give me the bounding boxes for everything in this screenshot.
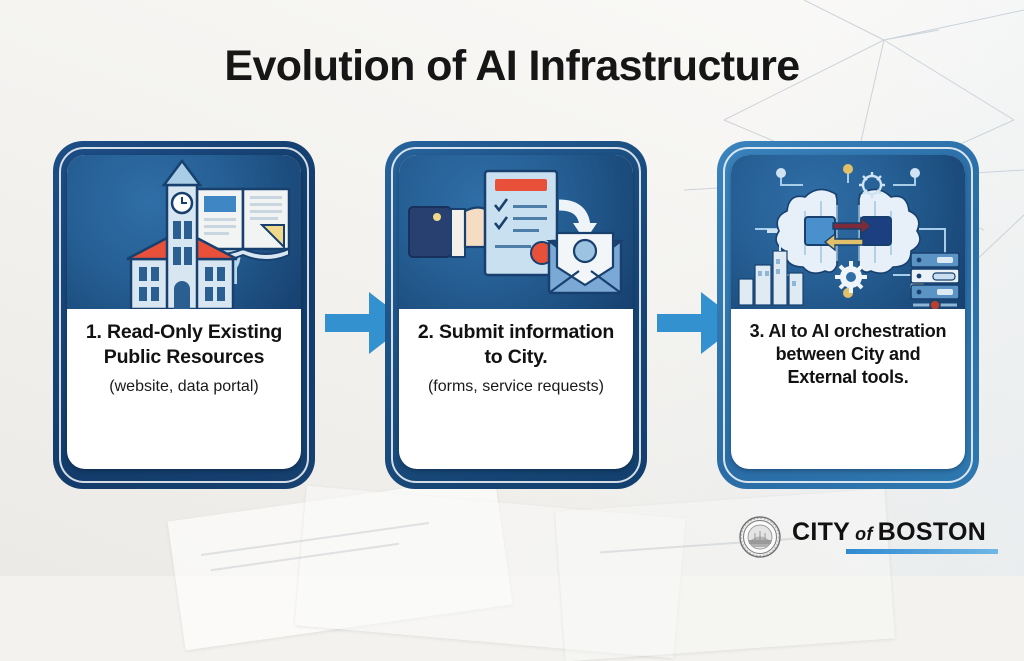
- dual-brain-network-servers-icon: [731, 155, 965, 309]
- logo-city: CITY: [792, 520, 850, 545]
- city-of-boston-logo: CITY of BOSTON: [739, 516, 998, 558]
- card-illustration-3: [731, 155, 965, 309]
- card-illustration-1: [67, 155, 301, 309]
- background-paper-sheet: [555, 489, 895, 661]
- step-card-1[interactable]: 1. Read-Only Existing Public Resources (…: [53, 141, 315, 489]
- card-content: 1. Read-Only Existing Public Resources (…: [67, 155, 301, 469]
- step-heading: 1. Read-Only Existing Public Resources: [77, 320, 291, 370]
- logo-underline-bar: [846, 549, 998, 554]
- step-heading: 2. Submit information to City.: [409, 320, 623, 370]
- city-hall-book-arrow-icon: [67, 155, 301, 309]
- card-content: 2. Submit information to City. (forms, s…: [399, 155, 633, 469]
- card-content: 3. AI to AI orchestration between City a…: [731, 155, 965, 469]
- card-text-3: 3. AI to AI orchestration between City a…: [731, 309, 965, 469]
- logo-text: CITY of BOSTON: [792, 520, 998, 554]
- logo-of: of: [855, 525, 873, 543]
- step-subtext: (forms, service requests): [409, 377, 623, 397]
- card-illustration-2: [399, 155, 633, 309]
- step-subtext: (website, data portal): [77, 377, 291, 397]
- card-text-2: 2. Submit information to City. (forms, s…: [399, 309, 633, 469]
- page-title: Evolution of AI Infrastructure: [0, 42, 1024, 91]
- card-text-1: 1. Read-Only Existing Public Resources (…: [67, 309, 301, 469]
- slide-canvas: Evolution of AI Infrastructure: [0, 0, 1024, 576]
- logo-boston: BOSTON: [878, 520, 986, 545]
- boston-city-seal-icon: [739, 516, 781, 558]
- step-card-2[interactable]: 2. Submit information to City. (forms, s…: [385, 141, 647, 489]
- step-heading: 3. AI to AI orchestration between City a…: [741, 320, 955, 389]
- hand-form-envelope-icon: [399, 155, 633, 309]
- step-card-3[interactable]: 3. AI to AI orchestration between City a…: [717, 141, 979, 489]
